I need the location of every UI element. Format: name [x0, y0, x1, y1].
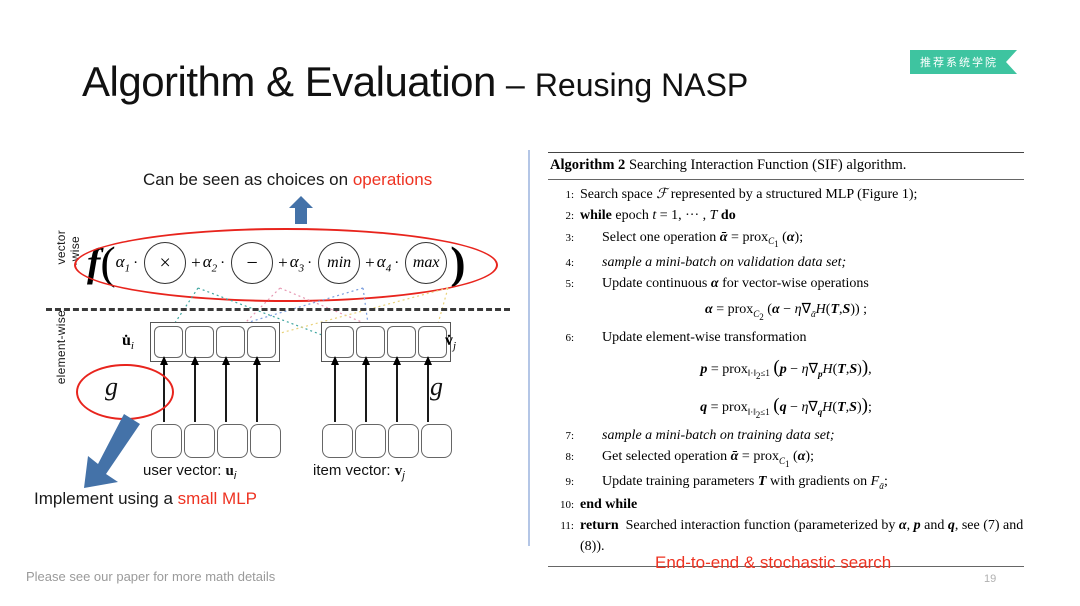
- line-number: 11:: [548, 518, 580, 535]
- algorithm-box: Algorithm 2 Searching Interaction Functi…: [548, 152, 1024, 567]
- line-number: 1:: [548, 187, 580, 204]
- caption-implement: Implement using a small MLP: [34, 489, 257, 509]
- caption-operations-highlight: operations: [353, 170, 432, 189]
- line-number: 8:: [548, 449, 580, 466]
- algorithm-line: 10: end while: [548, 494, 1024, 515]
- caption-operations: Can be seen as choices on operations: [143, 170, 432, 190]
- item-vector-caption-text: item vector:: [313, 462, 395, 479]
- user-vector-caption: user vector: ui: [143, 462, 236, 482]
- vector-cell: [217, 424, 248, 458]
- page-title: Algorithm & Evaluation – Reusing NASP: [82, 58, 748, 106]
- line-number: 10:: [548, 497, 580, 514]
- vector-cell: [421, 424, 452, 458]
- footer-note: Please see our paper for more math detai…: [26, 569, 275, 584]
- line-text: Update element-wise transformation: [580, 327, 1024, 348]
- slide-root: Algorithm & Evaluation – Reusing NASP 推荐…: [0, 0, 1080, 606]
- line-text: end while: [580, 494, 1024, 515]
- algorithm-lines: 1: Search space ℱ represented by a struc…: [548, 180, 1024, 562]
- algorithm-line: 5: Update continuous α for vector-wise o…: [548, 273, 1024, 294]
- algorithm-header-bold: Algorithm 2: [550, 157, 625, 173]
- algorithm-line: 4: sample a mini-batch on validation dat…: [548, 252, 1024, 273]
- line-text: while epoch t = 1, ··· , T do: [580, 205, 1024, 226]
- panel-divider: [528, 150, 530, 546]
- line-text: Get selected operation ᾱ = proxC1 (α);: [580, 446, 1024, 471]
- algorithm-line: 7: sample a mini-batch on training data …: [548, 425, 1024, 446]
- line-text: Select one operation ᾱ = proxC1 (α);: [580, 227, 1024, 252]
- caption-operations-plain: Can be seen as choices on: [143, 170, 353, 189]
- title-subtitle: Reusing NASP: [535, 67, 748, 104]
- line-number: 9:: [548, 474, 580, 491]
- footer-highlight: End-to-end & stochastic search: [655, 553, 891, 573]
- algorithm-equation-p: p = prox‖·‖2≤1 (p − η∇pH(T,S)),: [548, 349, 1024, 387]
- algorithm-line: 6: Update element-wise transformation: [548, 327, 1024, 348]
- algorithm-equation-alpha: α = proxC2 (α − η∇ᾱH(T,S)) ;: [548, 294, 1024, 327]
- line-text: Update training parameters T with gradie…: [580, 471, 1024, 493]
- line-text: sample a mini-batch on validation data s…: [580, 252, 1024, 273]
- title-main: Algorithm & Evaluation: [82, 58, 496, 106]
- line-number: 7:: [548, 428, 580, 445]
- caption-implement-highlight: small MLP: [178, 489, 257, 508]
- vector-cell: [388, 424, 419, 458]
- item-vector-row: [322, 424, 452, 458]
- algorithm-line: 9: Update training parameters T with gra…: [548, 471, 1024, 493]
- line-text: sample a mini-batch on training data set…: [580, 425, 1024, 446]
- vector-cell: [322, 424, 353, 458]
- line-number: 4:: [548, 255, 580, 272]
- algorithm-equation-q: q = prox‖·‖2≤1 (q − η∇qH(T,S));: [548, 387, 1024, 425]
- algorithm-line: 11: return Searched interaction function…: [548, 515, 1024, 558]
- badge-notch-icon: [1006, 50, 1017, 74]
- user-vector-caption-text: user vector:: [143, 462, 226, 479]
- algorithm-line: 2: while epoch t = 1, ··· , T do: [548, 205, 1024, 226]
- algorithm-header-rest: Searching Interaction Function (SIF) alg…: [625, 157, 906, 173]
- g-label-right: g: [430, 372, 443, 402]
- vector-cell: [250, 424, 281, 458]
- brand-badge: 推荐系统学院: [910, 50, 1017, 74]
- line-number: 3:: [548, 230, 580, 247]
- item-vector-caption: item vector: vj: [313, 462, 405, 482]
- line-text: Update continuous α for vector-wise oper…: [580, 273, 1024, 294]
- algorithm-line: 3: Select one operation ᾱ = proxC1 (α);: [548, 227, 1024, 252]
- algorithm-header: Algorithm 2 Searching Interaction Functi…: [548, 153, 1024, 179]
- caption-implement-plain: Implement using a: [34, 489, 178, 508]
- arrow-down-left-icon: [78, 412, 154, 490]
- algorithm-line: 1: Search space ℱ represented by a struc…: [548, 184, 1024, 205]
- vector-cell: [355, 424, 386, 458]
- line-text: return Searched interaction function (pa…: [580, 515, 1024, 558]
- brand-badge-label: 推荐系统学院: [910, 50, 1006, 74]
- user-vector-row: [151, 424, 281, 458]
- page-number: 19: [984, 573, 996, 585]
- line-number: 6:: [548, 330, 580, 347]
- line-number: 5:: [548, 276, 580, 293]
- line-number: 2:: [548, 208, 580, 225]
- line-text: Search space ℱ represented by a structur…: [580, 184, 1024, 205]
- algorithm-line: 8: Get selected operation ᾱ = proxC1 (α…: [548, 446, 1024, 471]
- vector-cell: [151, 424, 182, 458]
- title-dash: –: [506, 66, 525, 105]
- arrow-up-icon: [289, 196, 313, 224]
- vector-cell: [184, 424, 215, 458]
